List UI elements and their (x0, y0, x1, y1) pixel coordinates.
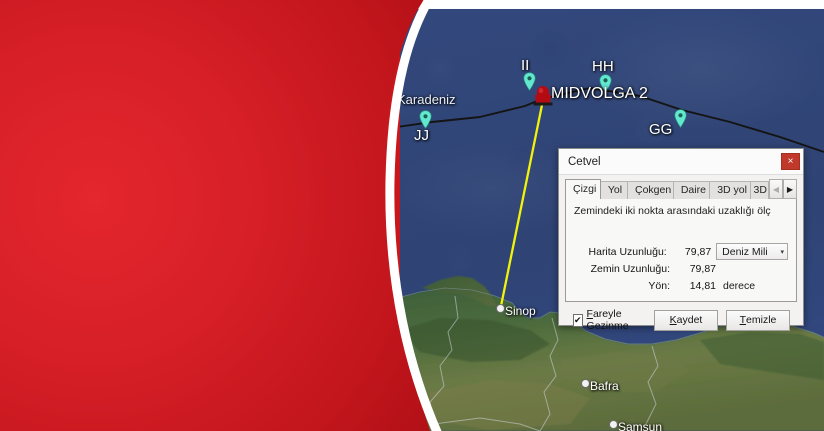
mouse-navigation-checkbox[interactable]: ✔ Fareyle Gezinme (573, 308, 640, 332)
headline: MIDVOLGA-2 TANKERİ SALDIRI SONRASI SİNOP… (22, 96, 352, 252)
map-marker-label-gg: GG (649, 121, 672, 138)
dialog-title: Cetvel (568, 156, 601, 168)
clear-button-label-rest: emizle (746, 314, 776, 326)
tab-3d-yol[interactable]: 3D yol (709, 181, 750, 199)
measurement-row-heading: Yön: 14,81 derece (574, 277, 788, 294)
mouse-navigation-label-rest: areyle Gezinme (587, 308, 629, 332)
tab-3d[interactable]: 3D (750, 181, 769, 199)
save-button-label-rest: aydet (677, 314, 703, 326)
unit-select[interactable]: Deniz Mili ▾ (716, 243, 788, 260)
vessel-icon-midvolga-2[interactable] (530, 84, 556, 108)
city-dot-bafra (581, 379, 590, 388)
tab-daire[interactable]: Daire (673, 181, 710, 199)
tab-panel-cizgi: Zemindeki iki nokta arasındaki uzaklığı … (565, 198, 797, 302)
close-icon[interactable]: × (781, 153, 800, 170)
measurement-row-ground-length: Zemin Uzunluğu: 79,87 (574, 260, 788, 277)
city-label-bafra: Bafra (590, 379, 619, 393)
city-dot-samsun (609, 420, 618, 429)
tab-strip[interactable]: Çizgi Yol Çokgen Daire 3D yol 3D ◀ ▶ (565, 180, 797, 199)
accel-key-k: K (670, 314, 677, 326)
screenshot-root: JJ II HH GG (0, 0, 824, 431)
sea-name-label: Karadeniz (400, 92, 456, 107)
ruler-dialog[interactable]: Cetvel × Çizgi Yol Çokgen Daire 3D yol 3… (558, 148, 804, 326)
map-length-value: 79,87 (667, 246, 714, 258)
save-button[interactable]: Kaydet (654, 310, 718, 331)
ground-length-value: 79,87 (670, 263, 719, 275)
map-marker-label-hh: HH (592, 58, 614, 75)
map-length-label: Harita Uzunluğu: (574, 246, 667, 258)
headline-line-2: TANKERİ SALDIRI (22, 135, 352, 174)
headline-line-4: İLERLİYOR (22, 213, 352, 252)
ground-length-label: Zemin Uzunluğu: (574, 263, 670, 275)
dialog-footer: ✔ Fareyle Gezinme Kaydet Temizle (565, 302, 797, 332)
tab-cokgen[interactable]: Çokgen (627, 181, 674, 199)
tab-cizgi[interactable]: Çizgi (565, 179, 601, 199)
heading-label: Yön: (574, 280, 670, 292)
measurement-row-map-length: Harita Uzunluğu: 79,87 Deniz Mili ▾ (574, 243, 788, 260)
heading-unit: derece (719, 280, 755, 292)
map-pin-icon-gg[interactable] (674, 109, 687, 128)
tab-yol[interactable]: Yol (600, 181, 628, 199)
checkbox-check-icon[interactable]: ✔ (573, 314, 583, 327)
chevron-left-icon[interactable]: ◀ (769, 179, 783, 199)
map-marker-label-ii: II (521, 57, 529, 74)
measurement-rows: Harita Uzunluğu: 79,87 Deniz Mili ▾ Zemi… (574, 243, 788, 294)
map-marker-label-jj: JJ (414, 127, 429, 144)
tab-scroll-controls[interactable]: ◀ ▶ (769, 179, 797, 199)
city-label-samsun: Samsun (618, 420, 662, 431)
heading-value: 14,81 (670, 280, 719, 292)
headline-line-3: SONRASI SİNOP'A (22, 174, 352, 213)
city-dot-sinop (496, 304, 505, 313)
dialog-title-bar[interactable]: Cetvel × (559, 149, 803, 175)
headline-line-1: MIDVOLGA-2 (22, 96, 352, 135)
chevron-down-icon: ▾ (780, 248, 784, 256)
chevron-right-icon[interactable]: ▶ (783, 179, 797, 199)
measure-description: Zemindeki iki nokta arasındaki uzaklığı … (574, 205, 788, 217)
vessel-label-midvolga-2: MIDVOLGA 2 (551, 85, 648, 103)
clear-button[interactable]: Temizle (726, 310, 790, 331)
city-label-sinop: Sinop (505, 304, 536, 318)
mouse-navigation-label: Fareyle Gezinme (587, 308, 640, 332)
dialog-body: Çizgi Yol Çokgen Daire 3D yol 3D ◀ ▶ Zem… (559, 175, 803, 332)
unit-select-value: Deniz Mili (722, 246, 768, 258)
